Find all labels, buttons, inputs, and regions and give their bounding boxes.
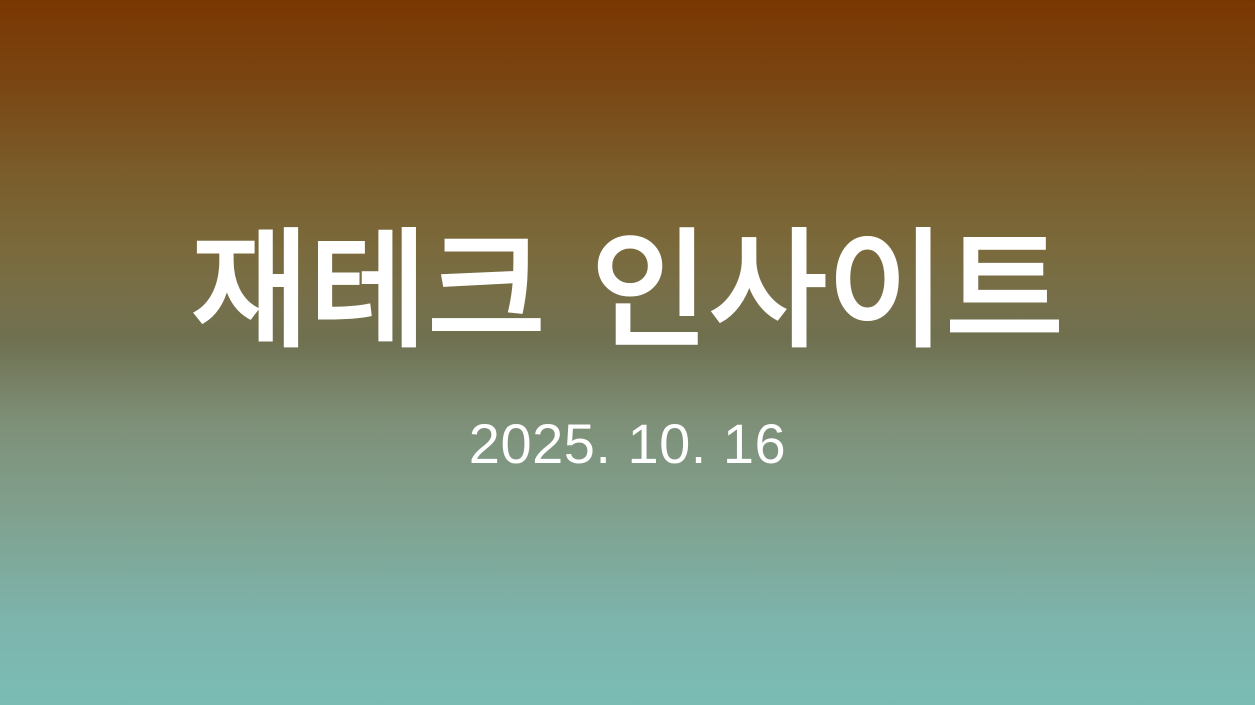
- slide-date-subtitle: 2025. 10. 16: [0, 410, 1255, 477]
- slide-content: 재테크 인사이트 2025. 10. 16: [0, 0, 1255, 705]
- page-title: 재테크 인사이트: [0, 218, 1255, 365]
- title-slide: 재테크 인사이트 2025. 10. 16: [0, 0, 1255, 705]
